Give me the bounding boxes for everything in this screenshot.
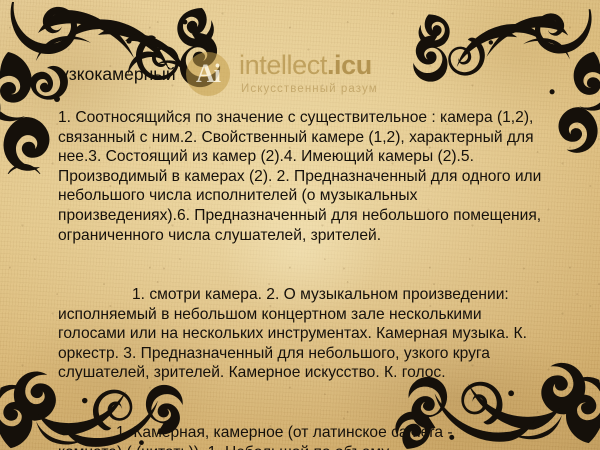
page-title: узкокамерный bbox=[60, 65, 176, 84]
dictionary-entry: узкокамерный 1. Соотносящийся по значени… bbox=[0, 0, 600, 450]
definition-paragraph-3-line1: 1. Камерная, камерное (от латинское came… bbox=[116, 424, 453, 441]
definition-paragraph-1: 1. Соотносящийся по значение с существит… bbox=[58, 108, 550, 245]
definition-paragraph-2: 1. смотри камера. 2. О музыкальном произ… bbox=[58, 285, 550, 383]
dictionary-slide: Ai intellect.icu Искусственный разум узк… bbox=[0, 0, 600, 450]
definition-paragraph-3: 1. Камерная, камерное (от латинское came… bbox=[58, 423, 550, 450]
definition-paragraph-3-line2: комната) ( (читать)). 1. Небольшой по об… bbox=[58, 443, 550, 450]
